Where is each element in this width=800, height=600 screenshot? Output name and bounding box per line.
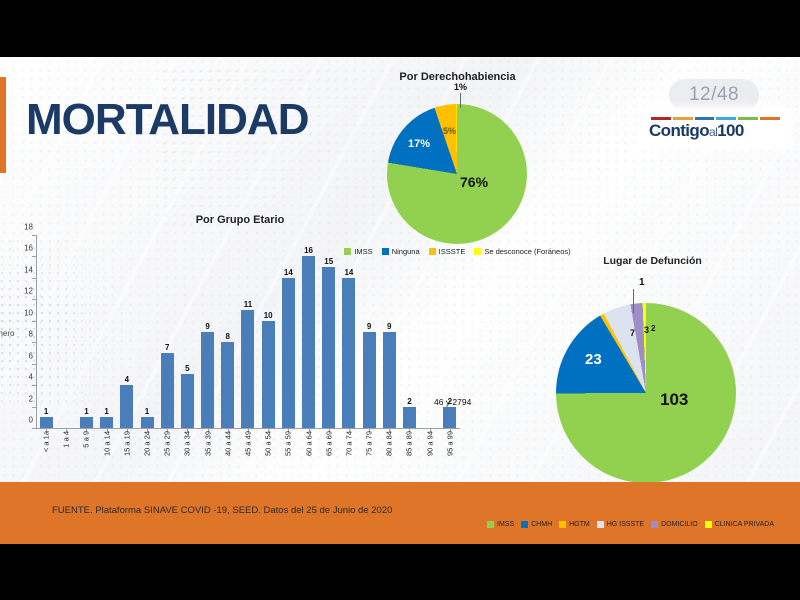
bar-value-label: 8 (226, 332, 230, 341)
x-axis-label: 50 a 54 (264, 431, 273, 456)
legend-item-imss[interactable]: IMSS (344, 247, 372, 256)
brand-logo-bar-4 (738, 117, 758, 120)
pie-slice-label-clinica-privada: 2 (651, 324, 655, 333)
bar-35-a-39[interactable]: 9 (201, 332, 214, 429)
bar-slot: 11 (238, 235, 258, 428)
bar-value-label: 1 (84, 407, 88, 416)
x-axis-label: 15 a 19 (122, 431, 131, 456)
x-axis-label: 85 a 89 (405, 431, 414, 456)
x-axis-label: 5 a 9 (82, 431, 91, 448)
x-axis-label-slot: 50 a 54 (258, 431, 278, 475)
x-axis-label: 25 a 29 (163, 431, 172, 456)
legend-label: Ninguna (392, 247, 420, 256)
x-axis-labels: < a 1a1 a 45 a 910 a 1415 a 1920 a 2425 … (36, 431, 460, 475)
left-accent-bar (0, 77, 6, 173)
legend-item-hgtm[interactable]: HGTM (559, 521, 590, 528)
legend-swatch (559, 521, 566, 528)
legend-swatch (597, 521, 604, 528)
bar-slot: 9 (379, 235, 399, 428)
x-axis-label: 70 a 74 (344, 431, 353, 456)
slide-viewport: MORTALIDAD 12/48 Contigoal100 Por Grupo … (0, 0, 800, 600)
pie-lugar-legend: IMSSCHMHHGTMHG ISSSTEDOMICILIOCLINICA PR… (487, 521, 774, 528)
bar-slot: 14 (339, 235, 359, 428)
bar-slot: 1 (137, 235, 157, 428)
pie-slice-label-ninguna: 17% (408, 138, 430, 150)
brand-logo-text: Contigoal100 (649, 122, 782, 139)
bar-chart-annotation: 46 y 2794 (434, 397, 471, 407)
pie-label-leader-line (460, 93, 461, 108)
pie-slice-label-domicilio: 3 (644, 325, 649, 335)
x-axis-label: 95 a 99 (445, 431, 454, 456)
letterbox-bottom (0, 544, 800, 600)
x-axis-label: 55 a 59 (284, 431, 293, 456)
x-axis-label: 75 a 79 (365, 431, 374, 456)
brand-logo-al: al (709, 125, 717, 139)
x-axis-label-slot: 45 a 49 (238, 431, 258, 475)
bar-75-a-79[interactable]: 9 (363, 332, 376, 429)
presentation-slide: MORTALIDAD 12/48 Contigoal100 Por Grupo … (0, 57, 800, 544)
bar-slot: 15 (319, 235, 339, 428)
bar-slot: 1 (36, 235, 56, 428)
x-axis-label: 30 a 34 (183, 431, 192, 456)
pie-slice-label-hg-issste: 7 (630, 328, 635, 338)
footer-source-text: FUENTE. Plataforma SINAVE COVID -19, SEE… (52, 505, 392, 516)
bar-value-label: 2 (407, 397, 411, 406)
bar-value-label: 1 (44, 407, 48, 416)
x-axis-label-slot: 35 a 39 (198, 431, 218, 475)
legend-item-imss[interactable]: IMSS (487, 521, 514, 528)
brand-logo-bar-0 (651, 117, 671, 120)
bar-20-a-24[interactable]: 1 (141, 417, 154, 428)
bar-value-label: 9 (367, 322, 371, 331)
legend-swatch (344, 248, 351, 255)
legend-swatch (705, 521, 712, 528)
bar-slot: 14 (278, 235, 298, 428)
bar-value-label: 5 (185, 364, 189, 373)
bar-slot (56, 235, 76, 428)
bar-value-label: 9 (205, 322, 209, 331)
x-axis-label-slot: 90 a 94 (420, 431, 440, 475)
legend-label: HG ISSSTE (607, 521, 644, 528)
bar-15-a-19[interactable]: 4 (120, 385, 133, 428)
legend-item-clinica-privada[interactable]: CLINICA PRIVADA (705, 521, 774, 528)
pie-lugar-title: Lugar de Defunción (520, 255, 785, 267)
bar-value-label: 7 (165, 343, 169, 352)
bar-slot: 2 (399, 235, 419, 428)
legend-label: ISSSTE (439, 247, 466, 256)
bar-chart-plot-area: 024681012141618 111417598111014161514992… (36, 235, 460, 429)
pie-slice-label-se-desconoce: 1% (454, 82, 467, 92)
x-axis-label-slot: 60 a 64 (298, 431, 318, 475)
bar-slot: 1 (97, 235, 117, 428)
pie-chart-por-derechohabiencia: Por Derechohabiencia 76% 17% 5% 1% IMSSN… (330, 71, 585, 261)
pie-slice-label-imss: 76% (460, 174, 488, 190)
bar-30-a-34[interactable]: 5 (181, 374, 194, 428)
y-axis-tick: 4 (29, 373, 33, 382)
bar-slot: 10 (258, 235, 278, 428)
bar-80-a-84[interactable]: 9 (383, 332, 396, 429)
pie-chart-lugar-de-defuncion: Lugar de Defunción 103 23 1 7 3 2 (520, 255, 800, 485)
bar-85-a-89[interactable]: 2 (403, 407, 416, 428)
bar-40-a-44[interactable]: 8 (221, 342, 234, 428)
x-axis-label-slot: 1 a 4 (56, 431, 76, 475)
bar-65-a-69[interactable]: 15 (322, 267, 335, 428)
x-axis-label: 60 a 64 (304, 431, 313, 456)
brand-logo-bar-1 (673, 117, 693, 120)
bar-value-label: 11 (244, 300, 252, 309)
bar-10-a-14[interactable]: 1 (100, 417, 113, 428)
brand-logo-contigo: Contigo (649, 121, 709, 140)
pie-label-leader-line (633, 289, 634, 313)
x-axis-label-slot: < a 1a (36, 431, 56, 475)
legend-swatch (521, 521, 528, 528)
x-axis-label-slot: 95 a 99 (440, 431, 460, 475)
y-axis-tick: 16 (24, 244, 33, 253)
bar-value-label: 1 (145, 407, 149, 416)
x-axis-label: 1 a 4 (62, 431, 71, 448)
x-axis-label: 90 a 94 (425, 431, 434, 456)
x-axis-label-slot: 65 a 69 (319, 431, 339, 475)
pie-slice-label-hgtm: 1 (639, 277, 645, 288)
bar-55-a-59[interactable]: 14 (282, 278, 295, 428)
legend-label: IMSS (497, 521, 514, 528)
legend-item-chmh[interactable]: CHMH (521, 521, 552, 528)
letterbox-top (0, 0, 800, 57)
pie-derechohabiencia-circle (387, 104, 527, 244)
brand-logo-bar-2 (695, 117, 715, 120)
x-axis-label-slot: 25 a 29 (157, 431, 177, 475)
bar--a-1a[interactable]: 1 (40, 417, 53, 428)
bar-slot: 9 (198, 235, 218, 428)
y-axis-tick: 8 (29, 330, 33, 339)
legend-item-issste[interactable]: ISSSTE (429, 247, 466, 256)
y-axis-tick: 12 (24, 287, 33, 296)
bar-60-a-64[interactable]: 16 (302, 256, 315, 428)
bar-value-label: 14 (284, 268, 293, 277)
x-axis-label-slot: 55 a 59 (278, 431, 298, 475)
x-axis-label: < a 1a (42, 431, 51, 452)
bar-45-a-49[interactable]: 11 (241, 310, 254, 428)
x-axis-label-slot: 75 a 79 (359, 431, 379, 475)
bar-50-a-54[interactable]: 10 (262, 321, 275, 428)
bar-value-label: 1 (104, 407, 108, 416)
x-axis-label-slot: 5 a 9 (76, 431, 96, 475)
x-axis-label-slot: 15 a 19 (117, 431, 137, 475)
x-axis-label-slot: 30 a 34 (177, 431, 197, 475)
x-axis-label-slot: 40 a 44 (218, 431, 238, 475)
y-axis-tick: 2 (29, 394, 33, 403)
bar-value-label: 4 (125, 375, 129, 384)
bar-slot: 8 (218, 235, 238, 428)
y-axis-tick: 10 (24, 308, 33, 317)
brand-logo-bars (651, 117, 780, 120)
bar-chart-title: Por Grupo Etario (120, 214, 360, 226)
brand-logo: Contigoal100 (643, 110, 788, 146)
x-axis-label: 45 a 49 (243, 431, 252, 456)
legend-label: CLINICA PRIVADA (715, 521, 774, 528)
bar-value-label: 9 (387, 322, 391, 331)
legend-item-hg-issste[interactable]: HG ISSSTE (597, 521, 644, 528)
y-axis-tick: 6 (29, 351, 33, 360)
y-axis-tick: 0 (29, 416, 33, 425)
bar-slot: 16 (298, 235, 318, 428)
bar-slot: 7 (157, 235, 177, 428)
bar-5-a-9[interactable]: 1 (80, 417, 93, 428)
legend-swatch (651, 521, 658, 528)
legend-swatch (429, 248, 436, 255)
legend-swatch (382, 248, 389, 255)
x-axis-label-slot: 10 a 14 (97, 431, 117, 475)
x-axis-label-slot: 20 a 24 (137, 431, 157, 475)
brand-logo-bar-5 (760, 117, 780, 120)
legend-label: DOMICILIO (661, 521, 698, 528)
legend-label: IMSS (354, 247, 372, 256)
bar-slot: 1 (76, 235, 96, 428)
legend-label: CHMH (531, 521, 552, 528)
y-axis-tick: 14 (24, 265, 33, 274)
pie-slice-label-chmh: 23 (585, 351, 602, 368)
x-axis-label-slot: 80 a 84 (379, 431, 399, 475)
page-title: MORTALIDAD (26, 98, 308, 142)
y-axis-tick-mark (32, 428, 36, 429)
pie-slice-label-imss: 103 (660, 390, 688, 410)
x-axis-label: 80 a 84 (385, 431, 394, 456)
y-axis-tick: 18 (24, 223, 33, 232)
bar-95-a-99[interactable]: 2 (443, 407, 456, 428)
bar-value-label: 14 (344, 268, 353, 277)
x-axis-label: 10 a 14 (102, 431, 111, 456)
bar-slot: 9 (359, 235, 379, 428)
legend-swatch (487, 521, 494, 528)
pie-slice-label-issste: 5% (443, 126, 456, 136)
brand-logo-bar-3 (716, 117, 736, 120)
x-axis-label: 35 a 39 (203, 431, 212, 456)
bar-chart-y-axis-label: Número (0, 329, 14, 338)
legend-item-ninguna[interactable]: Ninguna (382, 247, 420, 256)
x-axis-label: 65 a 69 (324, 431, 333, 456)
x-axis-label-slot: 85 a 89 (399, 431, 419, 475)
x-axis-label-slot: 70 a 74 (339, 431, 359, 475)
x-axis-label: 40 a 44 (223, 431, 232, 456)
bar-series: 1114175981110141615149922 (36, 235, 460, 428)
bar-value-label: 16 (304, 246, 313, 255)
bar-25-a-29[interactable]: 7 (161, 353, 174, 428)
brand-logo-100: 100 (717, 121, 744, 140)
page-counter: 12/48 (669, 79, 759, 111)
bar-slot: 4 (117, 235, 137, 428)
bar-value-label: 10 (264, 311, 273, 320)
bar-70-a-74[interactable]: 14 (342, 278, 355, 428)
x-axis-label: 20 a 24 (143, 431, 152, 456)
bar-slot: 5 (177, 235, 197, 428)
legend-swatch (474, 248, 481, 255)
legend-label: HGTM (569, 521, 590, 528)
legend-item-domicilio[interactable]: DOMICILIO (651, 521, 698, 528)
